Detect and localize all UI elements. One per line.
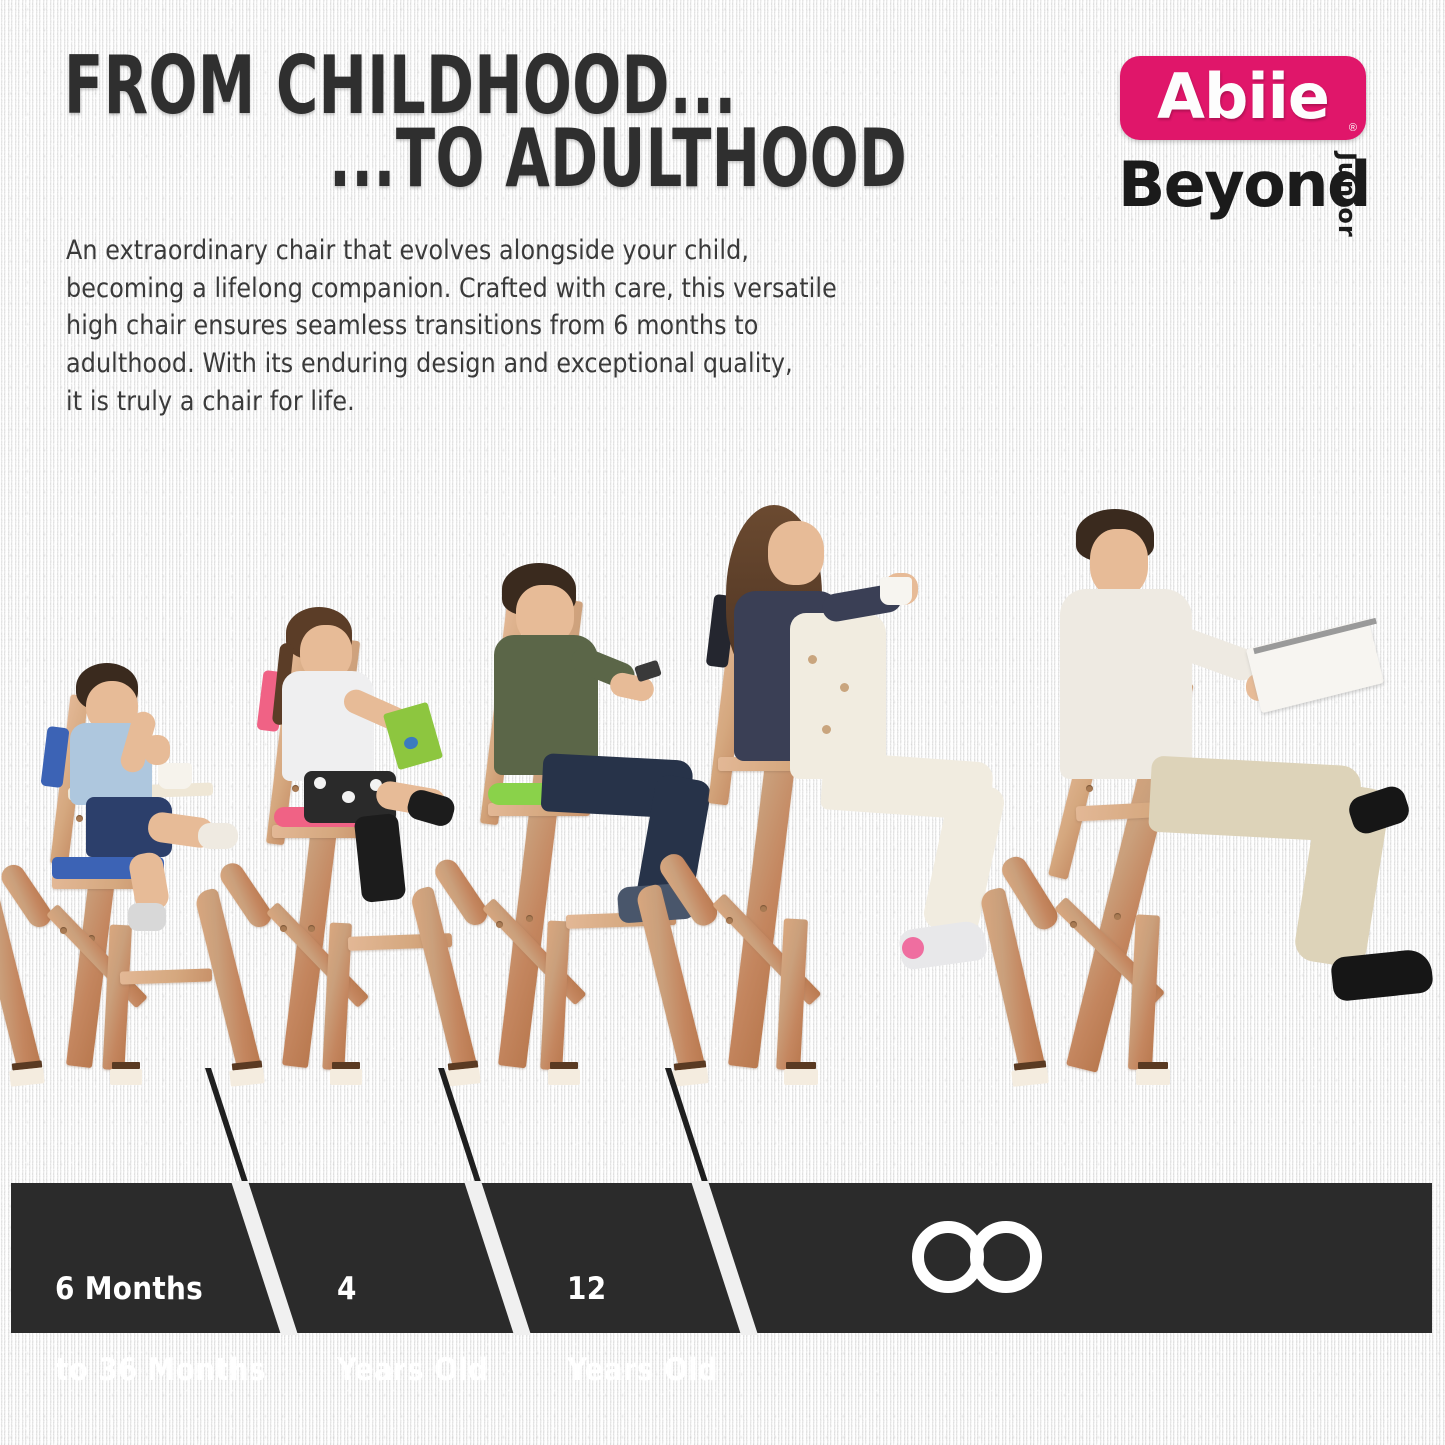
timeline-label-1-line2: to 36 Months <box>55 1352 266 1388</box>
timeline-label-2-line1: 4 <box>337 1271 357 1307</box>
brand-badge: Abiie ® <box>1120 56 1366 140</box>
timeline-bar: 6 Months to 36 Months 4 Years Old 12 Yea… <box>11 1183 1432 1333</box>
infinity-ring-right <box>970 1221 1042 1293</box>
timeline-label-3-line2: Years Old <box>567 1352 718 1388</box>
timeline-label-3-line1: 12 <box>567 1271 606 1307</box>
girl-boot <box>354 813 407 903</box>
page-title: FROM CHILDHOOD... ...TO ADULTHOOD <box>64 52 1004 194</box>
infinity-icon <box>912 1221 1044 1295</box>
timeline-label-2-line2: Years Old <box>337 1352 488 1388</box>
description-line-3: high chair ensures seamless transitions … <box>66 307 1041 345</box>
girl-top <box>282 671 374 781</box>
description-paragraph: An extraordinary chair that evolves alon… <box>66 232 1041 420</box>
timeline-label-3: 12 Years Old <box>567 1229 718 1390</box>
timeline-label-2: 4 Years Old <box>337 1229 488 1390</box>
registered-mark: ® <box>1349 122 1357 134</box>
product-tier: Junior <box>1333 152 1361 238</box>
description-line-2: becoming a lifelong companion. Crafted w… <box>66 270 1041 308</box>
brand-name: Abiie <box>1120 56 1366 140</box>
headline-line-2: ...TO ADULTHOOD <box>329 125 869 194</box>
figure-man <box>1010 485 1430 1085</box>
woman-mug <box>880 577 912 605</box>
description-line-5: it is truly a chair for life. <box>66 383 1041 421</box>
description-line-1: An extraordinary chair that evolves alon… <box>66 232 1041 270</box>
chair-progression-scene <box>0 455 1445 1085</box>
headline-line-1: FROM CHILDHOOD... <box>64 52 816 121</box>
description-line-4: adulthood. With its enduring design and … <box>66 345 1041 383</box>
timeline-label-1-line1: 6 Months <box>55 1271 203 1307</box>
man-head <box>1090 529 1148 597</box>
man-shirt <box>1060 589 1192 779</box>
product-infographic: FROM CHILDHOOD... ...TO ADULTHOOD An ext… <box>0 0 1445 1445</box>
timeline-label-1: 6 Months to 36 Months <box>55 1229 266 1390</box>
woman-head <box>768 521 824 585</box>
brand-logo: Abiie ® Beyond Junior <box>1118 56 1418 256</box>
figure-woman <box>672 485 1002 1085</box>
